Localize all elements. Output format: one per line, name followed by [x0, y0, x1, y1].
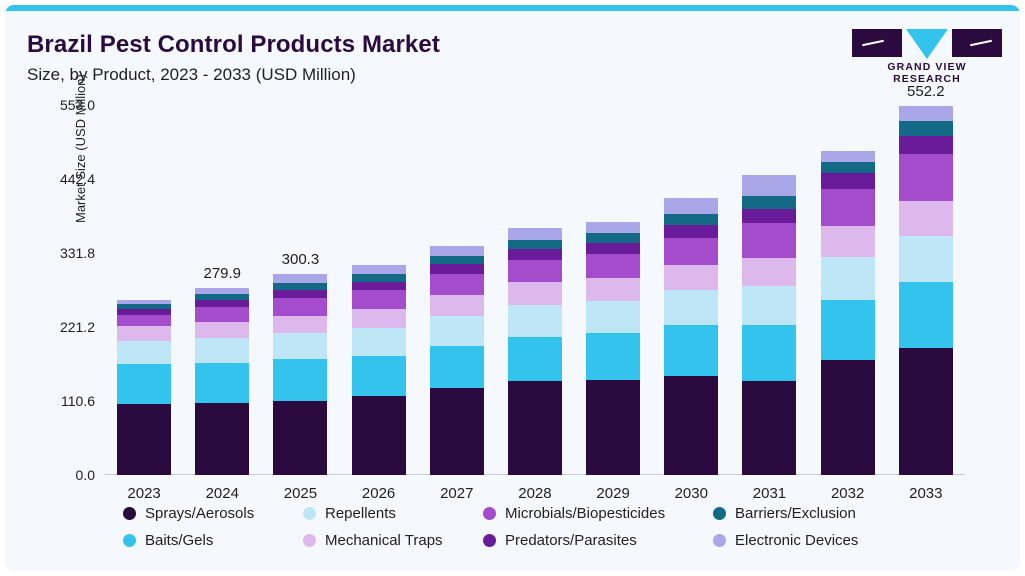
legend-color-swatch — [303, 507, 316, 520]
bar-segment[interactable] — [899, 106, 953, 122]
bar-segment[interactable] — [195, 307, 249, 322]
x-tick-label: 2032 — [831, 485, 864, 502]
bar-segment[interactable] — [899, 236, 953, 283]
bar-column[interactable]: 2023 — [117, 105, 171, 475]
bar-segment[interactable] — [742, 175, 796, 196]
bar-segment[interactable] — [273, 333, 327, 359]
legend-item[interactable]: Microbials/Biopesticides — [483, 505, 713, 522]
x-tick-label: 2033 — [909, 485, 942, 502]
bar-value-label: 279.9 — [203, 265, 241, 282]
grand-view-research-logo: GRAND VIEW RESEARCH — [852, 29, 1002, 81]
bar-segment[interactable] — [508, 381, 562, 475]
bar-segment[interactable] — [742, 223, 796, 258]
legend-item[interactable]: Mechanical Traps — [303, 532, 483, 549]
top-accent-bar — [5, 5, 1020, 11]
bar-segment[interactable] — [821, 360, 875, 475]
bar-segment[interactable] — [352, 309, 406, 328]
bar-segment[interactable] — [430, 264, 484, 274]
y-tick-label: 331.8 — [60, 245, 95, 261]
bar-segment[interactable] — [352, 356, 406, 396]
bar-segment[interactable] — [508, 305, 562, 336]
bar-segment[interactable] — [195, 338, 249, 363]
bar-segment[interactable] — [352, 290, 406, 309]
bar-segment[interactable] — [821, 226, 875, 257]
legend-item[interactable]: Predators/Parasites — [483, 532, 713, 549]
bar-segment[interactable] — [586, 243, 640, 254]
x-tick-label: 2028 — [518, 485, 551, 502]
bar-value-label: 552.2 — [907, 83, 945, 100]
bar-segment[interactable] — [899, 282, 953, 348]
bar-segment[interactable] — [273, 274, 327, 283]
bar-segment[interactable] — [742, 258, 796, 286]
bar-segment[interactable] — [742, 325, 796, 381]
bar-segment[interactable] — [430, 295, 484, 316]
bar-segment[interactable] — [742, 381, 796, 475]
bar-segment[interactable] — [899, 136, 953, 154]
legend-item[interactable]: Repellents — [303, 505, 483, 522]
legend-color-swatch — [483, 534, 496, 547]
bar-column[interactable]: 2028 — [508, 105, 562, 475]
plot-area: Market Size (USD Million) 0.0110.6221.23… — [105, 105, 965, 475]
bar-segment[interactable] — [273, 401, 327, 475]
bar-segment[interactable] — [899, 154, 953, 201]
bar-group: 2023279.92024300.32025202620272028202920… — [105, 105, 965, 475]
bar-segment[interactable] — [508, 240, 562, 249]
bar-segment[interactable] — [821, 162, 875, 173]
bar-value-label: 300.3 — [282, 251, 320, 268]
x-tick-label: 2024 — [206, 485, 239, 502]
logo-left-block — [852, 29, 902, 57]
bar-segment[interactable] — [586, 254, 640, 277]
bar-segment[interactable] — [742, 286, 796, 325]
bar-segment[interactable] — [430, 256, 484, 265]
legend-color-swatch — [713, 507, 726, 520]
bar-segment[interactable] — [664, 290, 718, 325]
bar-segment[interactable] — [117, 364, 171, 404]
bar-segment[interactable] — [352, 274, 406, 282]
bar-segment[interactable] — [899, 121, 953, 136]
bar-segment[interactable] — [664, 238, 718, 265]
bar-segment[interactable] — [664, 214, 718, 225]
bar-segment[interactable] — [508, 228, 562, 239]
bar-segment[interactable] — [664, 325, 718, 376]
bar-segment[interactable] — [117, 315, 171, 326]
bar-column[interactable]: 2031 — [742, 105, 796, 475]
chart-legend: Sprays/AerosolsRepellentsMicrobials/Biop… — [123, 505, 943, 549]
bar-segment[interactable] — [430, 346, 484, 388]
x-tick-label: 2026 — [362, 485, 395, 502]
bar-segment[interactable] — [430, 316, 484, 346]
bar-column[interactable]: 552.22033 — [899, 105, 953, 475]
legend-label: Repellents — [325, 505, 396, 522]
bar-segment[interactable] — [586, 380, 640, 475]
x-tick-label: 2027 — [440, 485, 473, 502]
legend-label: Predators/Parasites — [505, 532, 637, 549]
bar-segment[interactable] — [821, 173, 875, 189]
bar-segment[interactable] — [664, 265, 718, 290]
logo-brand-text: GRAND VIEW RESEARCH — [852, 61, 1002, 85]
bar-segment[interactable] — [586, 233, 640, 243]
bar-segment[interactable] — [821, 189, 875, 226]
bar-column[interactable]: 2030 — [664, 105, 718, 475]
x-tick-label: 2030 — [675, 485, 708, 502]
chart-card: Brazil Pest Control Products Market Size… — [0, 0, 1025, 576]
bar-segment[interactable] — [899, 348, 953, 475]
bar-segment[interactable] — [273, 298, 327, 315]
x-tick-label: 2023 — [127, 485, 160, 502]
legend-item[interactable]: Electronic Devices — [713, 532, 913, 549]
bar-segment[interactable] — [352, 396, 406, 475]
bar-segment[interactable] — [508, 337, 562, 382]
legend-item[interactable]: Barriers/Exclusion — [713, 505, 913, 522]
legend-label: Microbials/Biopesticides — [505, 505, 665, 522]
bar-segment[interactable] — [117, 341, 171, 364]
bar-segment[interactable] — [430, 388, 484, 475]
legend-color-swatch — [123, 534, 136, 547]
bar-column[interactable]: 2027 — [430, 105, 484, 475]
x-tick-label: 2025 — [284, 485, 317, 502]
legend-color-swatch — [123, 507, 136, 520]
y-tick-label: 0.0 — [76, 467, 95, 483]
legend-label: Baits/Gels — [145, 532, 213, 549]
x-tick-label: 2029 — [596, 485, 629, 502]
bar-segment[interactable] — [586, 222, 640, 233]
bar-segment[interactable] — [821, 257, 875, 300]
page-title: Brazil Pest Control Products Market — [27, 31, 440, 59]
bar-segment[interactable] — [664, 376, 718, 475]
legend-color-swatch — [713, 534, 726, 547]
bar-segment[interactable] — [821, 151, 875, 162]
bar-column[interactable]: 300.32025 — [273, 105, 327, 475]
legend-item[interactable]: Baits/Gels — [123, 532, 303, 549]
y-tick-label: 110.6 — [61, 393, 95, 409]
legend-label: Mechanical Traps — [325, 532, 443, 549]
bar-segment[interactable] — [508, 260, 562, 283]
legend-color-swatch — [303, 534, 316, 547]
bar-segment[interactable] — [664, 225, 718, 238]
bar-segment[interactable] — [195, 403, 249, 475]
bar-segment[interactable] — [508, 249, 562, 260]
bar-segment[interactable] — [273, 316, 327, 333]
bar-segment[interactable] — [742, 196, 796, 209]
bar-segment[interactable] — [195, 363, 249, 404]
y-tick-label: 221.2 — [60, 319, 95, 335]
bar-segment[interactable] — [586, 278, 640, 301]
bar-segment[interactable] — [273, 359, 327, 401]
bar-segment[interactable] — [195, 322, 249, 338]
bar-segment[interactable] — [664, 198, 718, 214]
logo-triangle-icon — [906, 29, 948, 59]
y-tick-label: 553.0 — [60, 97, 95, 113]
bar-column[interactable]: 2029 — [586, 105, 640, 475]
x-tick-label: 2031 — [753, 485, 786, 502]
bar-segment[interactable] — [586, 301, 640, 333]
bar-segment[interactable] — [821, 300, 875, 360]
bar-segment[interactable] — [430, 246, 484, 255]
bar-segment[interactable] — [273, 283, 327, 290]
bar-segment[interactable] — [352, 282, 406, 291]
bar-segment[interactable] — [899, 201, 953, 236]
bar-segment[interactable] — [117, 326, 171, 341]
legend-color-swatch — [483, 507, 496, 520]
bar-segment[interactable] — [586, 333, 640, 380]
legend-item[interactable]: Sprays/Aerosols — [123, 505, 303, 522]
bar-segment[interactable] — [117, 404, 171, 475]
bar-segment[interactable] — [430, 274, 484, 295]
bar-segment[interactable] — [742, 209, 796, 224]
bar-segment[interactable] — [508, 282, 562, 305]
legend-label: Barriers/Exclusion — [735, 505, 856, 522]
bar-segment[interactable] — [352, 328, 406, 356]
bar-column[interactable]: 2032 — [821, 105, 875, 475]
y-tick-label: 442.4 — [60, 171, 95, 187]
bar-segment[interactable] — [273, 290, 327, 298]
bar-column[interactable]: 279.92024 — [195, 105, 249, 475]
bar-segment[interactable] — [195, 300, 249, 307]
legend-label: Sprays/Aerosols — [145, 505, 254, 522]
bar-column[interactable]: 2026 — [352, 105, 406, 475]
bar-segment[interactable] — [352, 265, 406, 274]
logo-right-block — [952, 29, 1002, 57]
legend-label: Electronic Devices — [735, 532, 858, 549]
